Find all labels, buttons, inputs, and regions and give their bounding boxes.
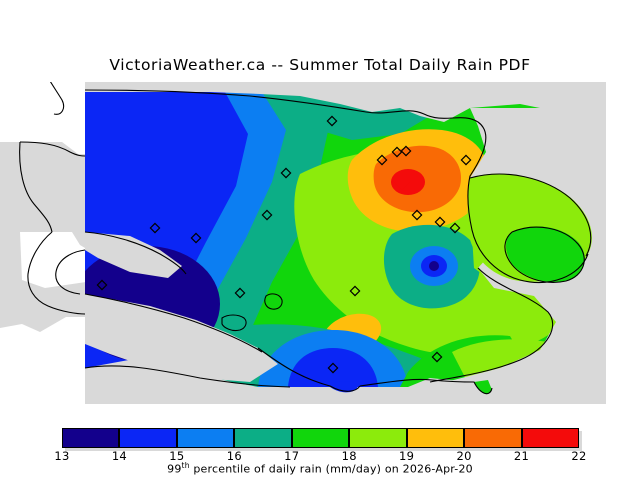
- colorbar[interactable]: [62, 428, 579, 448]
- contour-map[interactable]: [0, 82, 606, 404]
- colorbar-band-14-15[interactable]: [119, 428, 176, 448]
- page-title: VictoriaWeather.ca -- Summer Total Daily…: [0, 56, 640, 74]
- caption-superscript: th: [182, 461, 190, 470]
- colorbar-band-21-22[interactable]: [522, 428, 579, 448]
- caption-prefix: 99: [167, 463, 181, 476]
- colorbar-band-20-21[interactable]: [464, 428, 521, 448]
- map-panel[interactable]: [0, 82, 606, 404]
- contour-band-13-14-east-low: [429, 261, 439, 271]
- colorbar-band-17-18[interactable]: [292, 428, 349, 448]
- colorbar-band-16-17[interactable]: [234, 428, 291, 448]
- weather-map-page: VictoriaWeather.ca -- Summer Total Daily…: [0, 0, 640, 480]
- colorbar-band-13-14[interactable]: [62, 428, 119, 448]
- colorbar-band-15-16[interactable]: [177, 428, 234, 448]
- colorbar-band-18-19[interactable]: [349, 428, 406, 448]
- caption-rest: percentile of daily rain (mm/day) on 202…: [190, 463, 473, 476]
- colorbar-caption: 99th percentile of daily rain (mm/day) o…: [0, 461, 640, 476]
- colorbar-band-19-20[interactable]: [407, 428, 464, 448]
